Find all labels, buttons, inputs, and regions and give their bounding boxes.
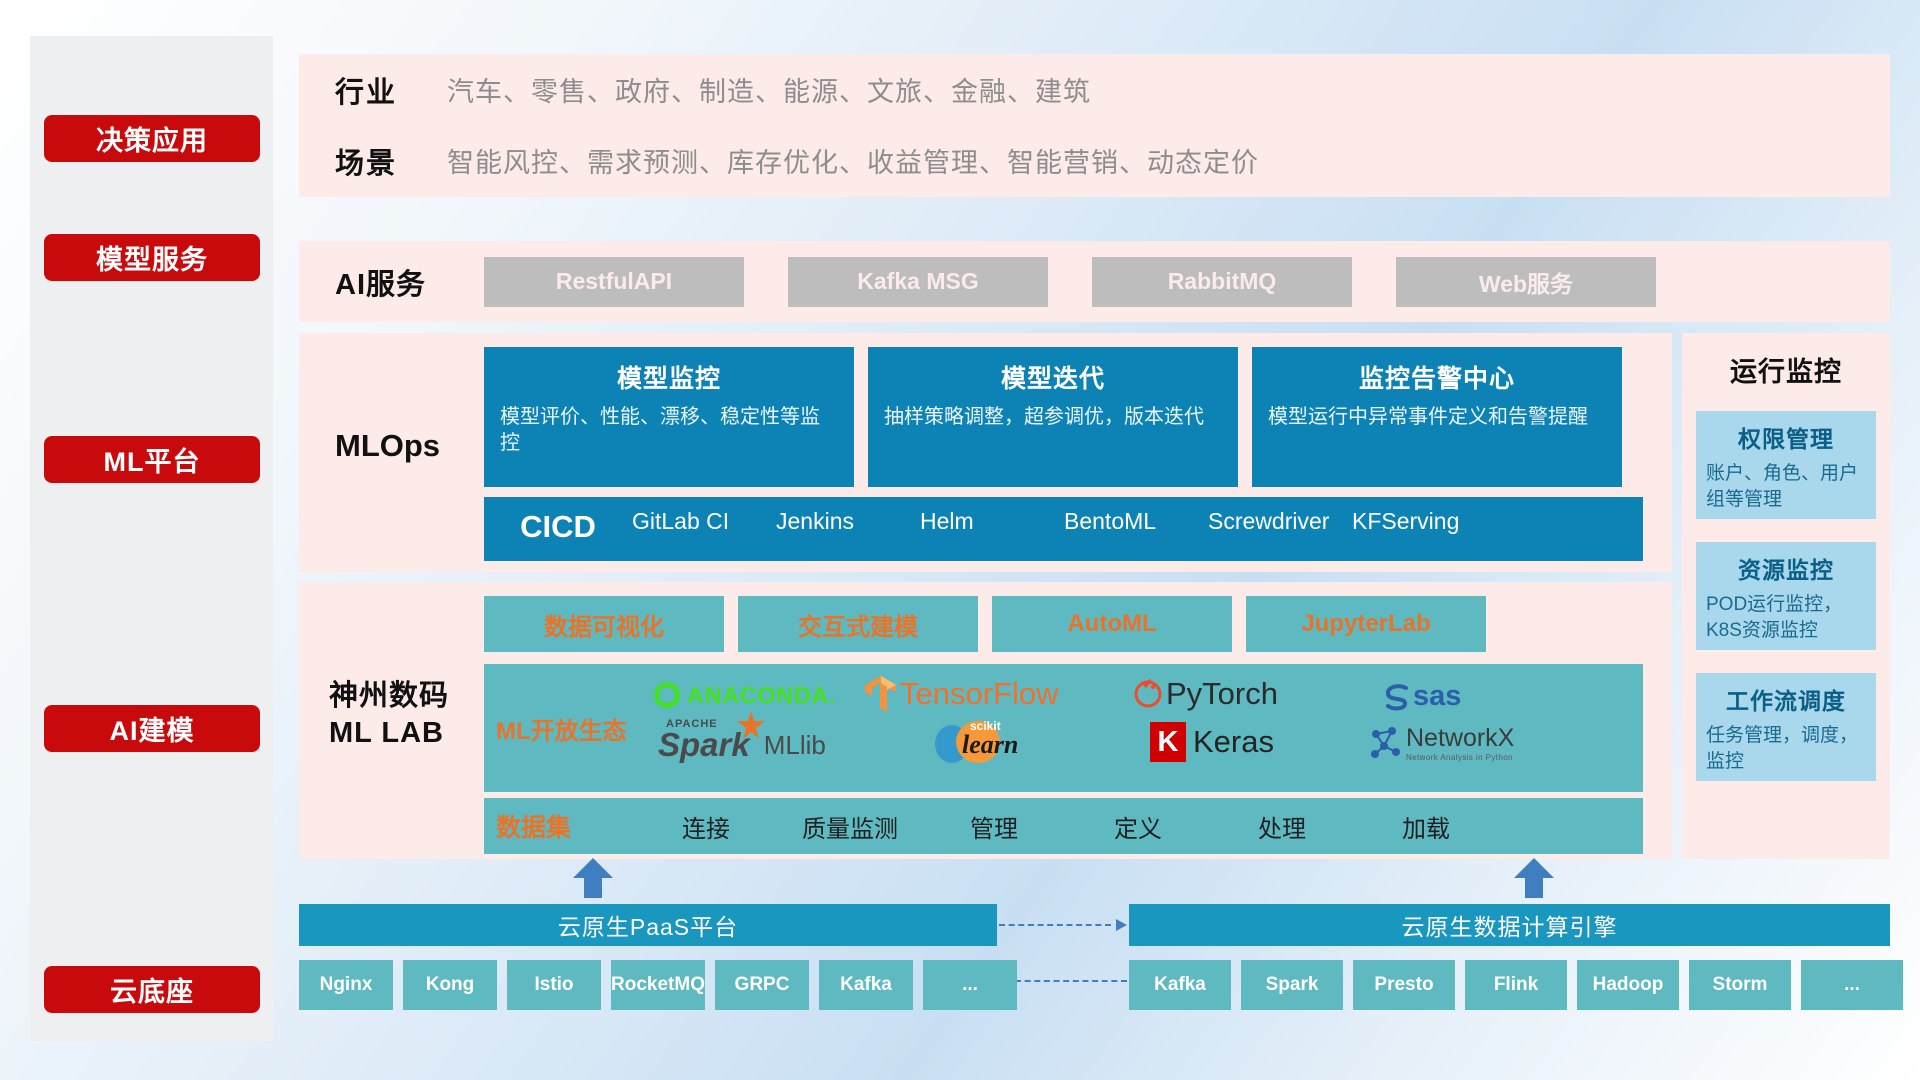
- dataset-item-group: 连接 质量监测 管理 定义 处理 加载: [634, 809, 1643, 844]
- cicd-item-kfserving[interactable]: KFServing: [1352, 509, 1496, 535]
- scikit-learn-logo: scikit learn: [934, 720, 1004, 766]
- layer-pill-cloud-base[interactable]: 云底座: [44, 966, 260, 1013]
- learn-wordmark: learn: [962, 730, 1018, 760]
- cicd-item-group: GitLab CI Jenkins Helm BentoML Screwdriv…: [632, 509, 1643, 535]
- ml-lab-label-line1: 神州数码: [329, 678, 449, 715]
- mlops-card-alert-center[interactable]: 监控告警中心 模型运行中异常事件定义和告警提醒: [1252, 347, 1622, 487]
- card-title: 权限管理: [1706, 420, 1866, 454]
- engine-chip-flink[interactable]: Flink: [1465, 960, 1567, 1010]
- tool-chip-automl[interactable]: AutoML: [992, 596, 1232, 652]
- paas-chip-kong[interactable]: Kong: [403, 960, 497, 1010]
- runtime-monitor-title: 运行监控: [1682, 333, 1890, 389]
- mlops-label: MLOps: [335, 428, 440, 464]
- scenario-values: 智能风控、需求预测、库存优化、收益管理、智能营销、动态定价: [447, 141, 1259, 180]
- mlops-card-model-iteration[interactable]: 模型迭代 抽样策略调整，超参调优，版本迭代: [868, 347, 1238, 487]
- cicd-item-helm[interactable]: Helm: [920, 509, 1064, 535]
- cicd-item-screwdriver[interactable]: Screwdriver: [1208, 509, 1352, 535]
- card-title: 资源监控: [1706, 551, 1866, 585]
- layer-pill-label: 决策应用: [96, 119, 208, 158]
- pytorch-wordmark: PyTorch: [1166, 676, 1278, 712]
- keras-mark-letter: K: [1158, 726, 1179, 759]
- dataset-title: 数据集: [484, 808, 634, 844]
- layer-pill-ml-platform[interactable]: ML平台: [44, 436, 260, 483]
- networkx-wordmark: NetworkX: [1406, 724, 1514, 753]
- engine-chip-kafka[interactable]: Kafka: [1129, 960, 1231, 1010]
- mlops-card-model-monitoring[interactable]: 模型监控 模型评价、性能、漂移、稳定性等监控: [484, 347, 854, 487]
- pytorch-logo: PyTorch: [1134, 676, 1278, 712]
- industry-values: 汽车、零售、政府、制造、能源、文旅、金融、建筑: [447, 70, 1091, 109]
- dataset-item-define[interactable]: 定义: [1066, 809, 1210, 844]
- dashed-connector-left: [999, 980, 1127, 982]
- ai-service-chip-group: RestfulAPI Kafka MSG RabbitMQ Web服务: [484, 257, 1656, 307]
- monitor-card-permission[interactable]: 权限管理 账户、角色、用户组等管理: [1696, 411, 1876, 519]
- sas-wordmark: sas: [1413, 680, 1461, 713]
- layer-rail: 决策应用 模型服务 ML平台 AI建模 云底座: [30, 36, 273, 1041]
- keras-wordmark: Keras: [1193, 724, 1274, 760]
- card-title: 工作流调度: [1706, 682, 1866, 716]
- card-description: 任务管理，调度，监控: [1706, 723, 1866, 774]
- anaconda-ring-icon: [652, 680, 682, 710]
- layer-pill-label: AI建模: [110, 709, 195, 748]
- industry-scenario-band: 行业 汽车、零售、政府、制造、能源、文旅、金融、建筑 场景 智能风控、需求预测、…: [299, 54, 1890, 197]
- ml-ecosystem-box: ML开放生态 ANACONDA. TensorFlow: [484, 664, 1643, 792]
- upward-arrow-right: [1512, 858, 1556, 898]
- ml-ecosystem-label: ML开放生态: [484, 711, 634, 746]
- tool-chip-interactive-modeling[interactable]: 交互式建模: [738, 596, 978, 652]
- cloud-data-engine-bar[interactable]: 云原生数据计算引擎: [1129, 904, 1890, 946]
- ai-service-band: AI服务 RestfulAPI Kafka MSG RabbitMQ Web服务: [299, 241, 1890, 322]
- networkx-logo: NetworkX Network Analysis in Python: [1370, 724, 1514, 762]
- monitor-card-workflow[interactable]: 工作流调度 任务管理，调度，监控: [1696, 673, 1876, 781]
- runtime-monitor-panel: 运行监控 权限管理 账户、角色、用户组等管理 资源监控 POD运行监控，K8S资…: [1682, 333, 1890, 859]
- layer-pill-model-service[interactable]: 模型服务: [44, 234, 260, 281]
- networkx-tagline: Network Analysis in Python: [1406, 753, 1514, 762]
- cicd-item-gitlab-ci[interactable]: GitLab CI: [632, 509, 776, 535]
- sas-logo: sas: [1382, 680, 1461, 713]
- ai-service-label: AI服务: [299, 261, 484, 303]
- data-engine-chip-group: Kafka Spark Presto Flink Hadoop Storm ..…: [1129, 960, 1903, 1010]
- keras-logo: K Keras: [1150, 722, 1274, 762]
- cloud-paas-bar[interactable]: 云原生PaaS平台: [299, 904, 997, 946]
- engine-chip-spark[interactable]: Spark: [1241, 960, 1343, 1010]
- tool-chip-data-visualization[interactable]: 数据可视化: [484, 596, 724, 652]
- cicd-bar: CICD GitLab CI Jenkins Helm BentoML Scre…: [484, 497, 1643, 561]
- industry-row: 行业 汽车、零售、政府、制造、能源、文旅、金融、建筑: [299, 54, 1890, 125]
- layer-pill-ai-modeling[interactable]: AI建模: [44, 705, 260, 752]
- ai-service-chip-kafka-msg[interactable]: Kafka MSG: [788, 257, 1048, 307]
- engine-chip-presto[interactable]: Presto: [1353, 960, 1455, 1010]
- card-description: 模型评价、性能、漂移、稳定性等监控: [500, 404, 838, 457]
- dashed-connector-right: [999, 924, 1127, 926]
- paas-chip-istio[interactable]: Istio: [507, 960, 601, 1010]
- layer-pill-label: ML平台: [104, 440, 201, 479]
- layer-pill-decision[interactable]: 决策应用: [44, 115, 260, 162]
- ml-lab-label: 神州数码 ML LAB: [329, 678, 449, 751]
- pytorch-flame-icon: [1134, 679, 1162, 709]
- ai-service-chip-web-service[interactable]: Web服务: [1396, 257, 1656, 307]
- cicd-item-jenkins[interactable]: Jenkins: [776, 509, 920, 535]
- card-title: 模型迭代: [884, 359, 1222, 395]
- engine-chip-hadoop[interactable]: Hadoop: [1577, 960, 1679, 1010]
- paas-chip-more[interactable]: ...: [923, 960, 1017, 1010]
- mlops-band: MLOps 模型监控 模型评价、性能、漂移、稳定性等监控 模型迭代 抽样策略调整…: [299, 333, 1672, 572]
- industry-label: 行业: [335, 69, 447, 111]
- keras-mark-icon: K: [1150, 722, 1186, 762]
- cicd-title: CICD: [484, 509, 632, 545]
- card-description: 抽样策略调整，超参调优，版本迭代: [884, 404, 1222, 430]
- paas-chip-grpc[interactable]: GRPC: [715, 960, 809, 1010]
- dataset-item-process[interactable]: 处理: [1210, 809, 1354, 844]
- ai-service-chip-rabbitmq[interactable]: RabbitMQ: [1092, 257, 1352, 307]
- spark-apache-text: APACHE: [666, 718, 718, 730]
- dataset-item-load[interactable]: 加载: [1354, 809, 1498, 844]
- paas-chip-group: Nginx Kong Istio RocketMQ GRPC Kafka ...: [299, 960, 1017, 1010]
- sas-swirl-icon: [1382, 683, 1412, 711]
- mlops-card-group: 模型监控 模型评价、性能、漂移、稳定性等监控 模型迭代 抽样策略调整，超参调优，…: [484, 347, 1622, 487]
- monitor-card-resource[interactable]: 资源监控 POD运行监控，K8S资源监控: [1696, 542, 1876, 650]
- paas-chip-kafka[interactable]: Kafka: [819, 960, 913, 1010]
- scenario-row: 场景 智能风控、需求预测、库存优化、收益管理、智能营销、动态定价: [299, 125, 1890, 196]
- card-description: 模型运行中异常事件定义和告警提醒: [1268, 404, 1606, 430]
- paas-chip-nginx[interactable]: Nginx: [299, 960, 393, 1010]
- ml-ecosystem-logo-group: ANACONDA. TensorFlow: [634, 664, 1643, 792]
- cloud-paas-label: 云原生PaaS平台: [558, 908, 738, 942]
- anaconda-logo: ANACONDA.: [652, 680, 837, 710]
- mllib-text: MLlib: [764, 730, 826, 761]
- tool-chip-jupyterlab[interactable]: JupyterLab: [1246, 596, 1486, 652]
- ai-service-chip-restfulapi[interactable]: RestfulAPI: [484, 257, 744, 307]
- tensorflow-logo: TensorFlow: [864, 674, 1059, 714]
- layer-pill-label: 云底座: [110, 970, 194, 1009]
- tensorflow-mark-icon: [864, 674, 898, 714]
- card-description: POD运行监控，K8S资源监控: [1706, 592, 1866, 643]
- paas-chip-rocketmq[interactable]: RocketMQ: [611, 960, 705, 1010]
- tensorflow-wordmark: TensorFlow: [900, 676, 1059, 712]
- arrowhead-right-icon: [1116, 919, 1127, 931]
- spark-star-icon: [736, 710, 766, 740]
- card-description: 账户、角色、用户组等管理: [1706, 461, 1866, 512]
- ml-lab-label-line2: ML LAB: [329, 715, 449, 752]
- cicd-item-bentoml[interactable]: BentoML: [1064, 509, 1208, 535]
- architecture-main-column: 行业 汽车、零售、政府、制造、能源、文旅、金融、建筑 场景 智能风控、需求预测、…: [299, 36, 1890, 1041]
- dataset-item-manage[interactable]: 管理: [922, 809, 1066, 844]
- cloud-data-engine-label: 云原生数据计算引擎: [1402, 908, 1618, 942]
- engine-chip-more[interactable]: ...: [1801, 960, 1903, 1010]
- networkx-graph-icon: [1370, 726, 1402, 760]
- dataset-item-quality-check[interactable]: 质量监测: [778, 809, 922, 844]
- engine-chip-storm[interactable]: Storm: [1689, 960, 1791, 1010]
- spark-mllib-logo: APACHE Spark MLlib: [658, 726, 826, 764]
- modeling-tool-group: 数据可视化 交互式建模 AutoML JupyterLab: [484, 596, 1486, 652]
- ai-modeling-band: 神州数码 ML LAB 数据可视化 交互式建模 AutoML JupyterLa…: [299, 582, 1672, 859]
- layer-pill-label: 模型服务: [96, 238, 208, 277]
- dataset-item-connect[interactable]: 连接: [634, 809, 778, 844]
- scenario-label: 场景: [335, 140, 447, 182]
- card-title: 监控告警中心: [1268, 359, 1606, 395]
- anaconda-wordmark: ANACONDA.: [687, 682, 837, 709]
- card-title: 模型监控: [500, 359, 838, 395]
- upward-arrow-left: [571, 858, 615, 898]
- dataset-bar: 数据集 连接 质量监测 管理 定义 处理 加载: [484, 798, 1643, 854]
